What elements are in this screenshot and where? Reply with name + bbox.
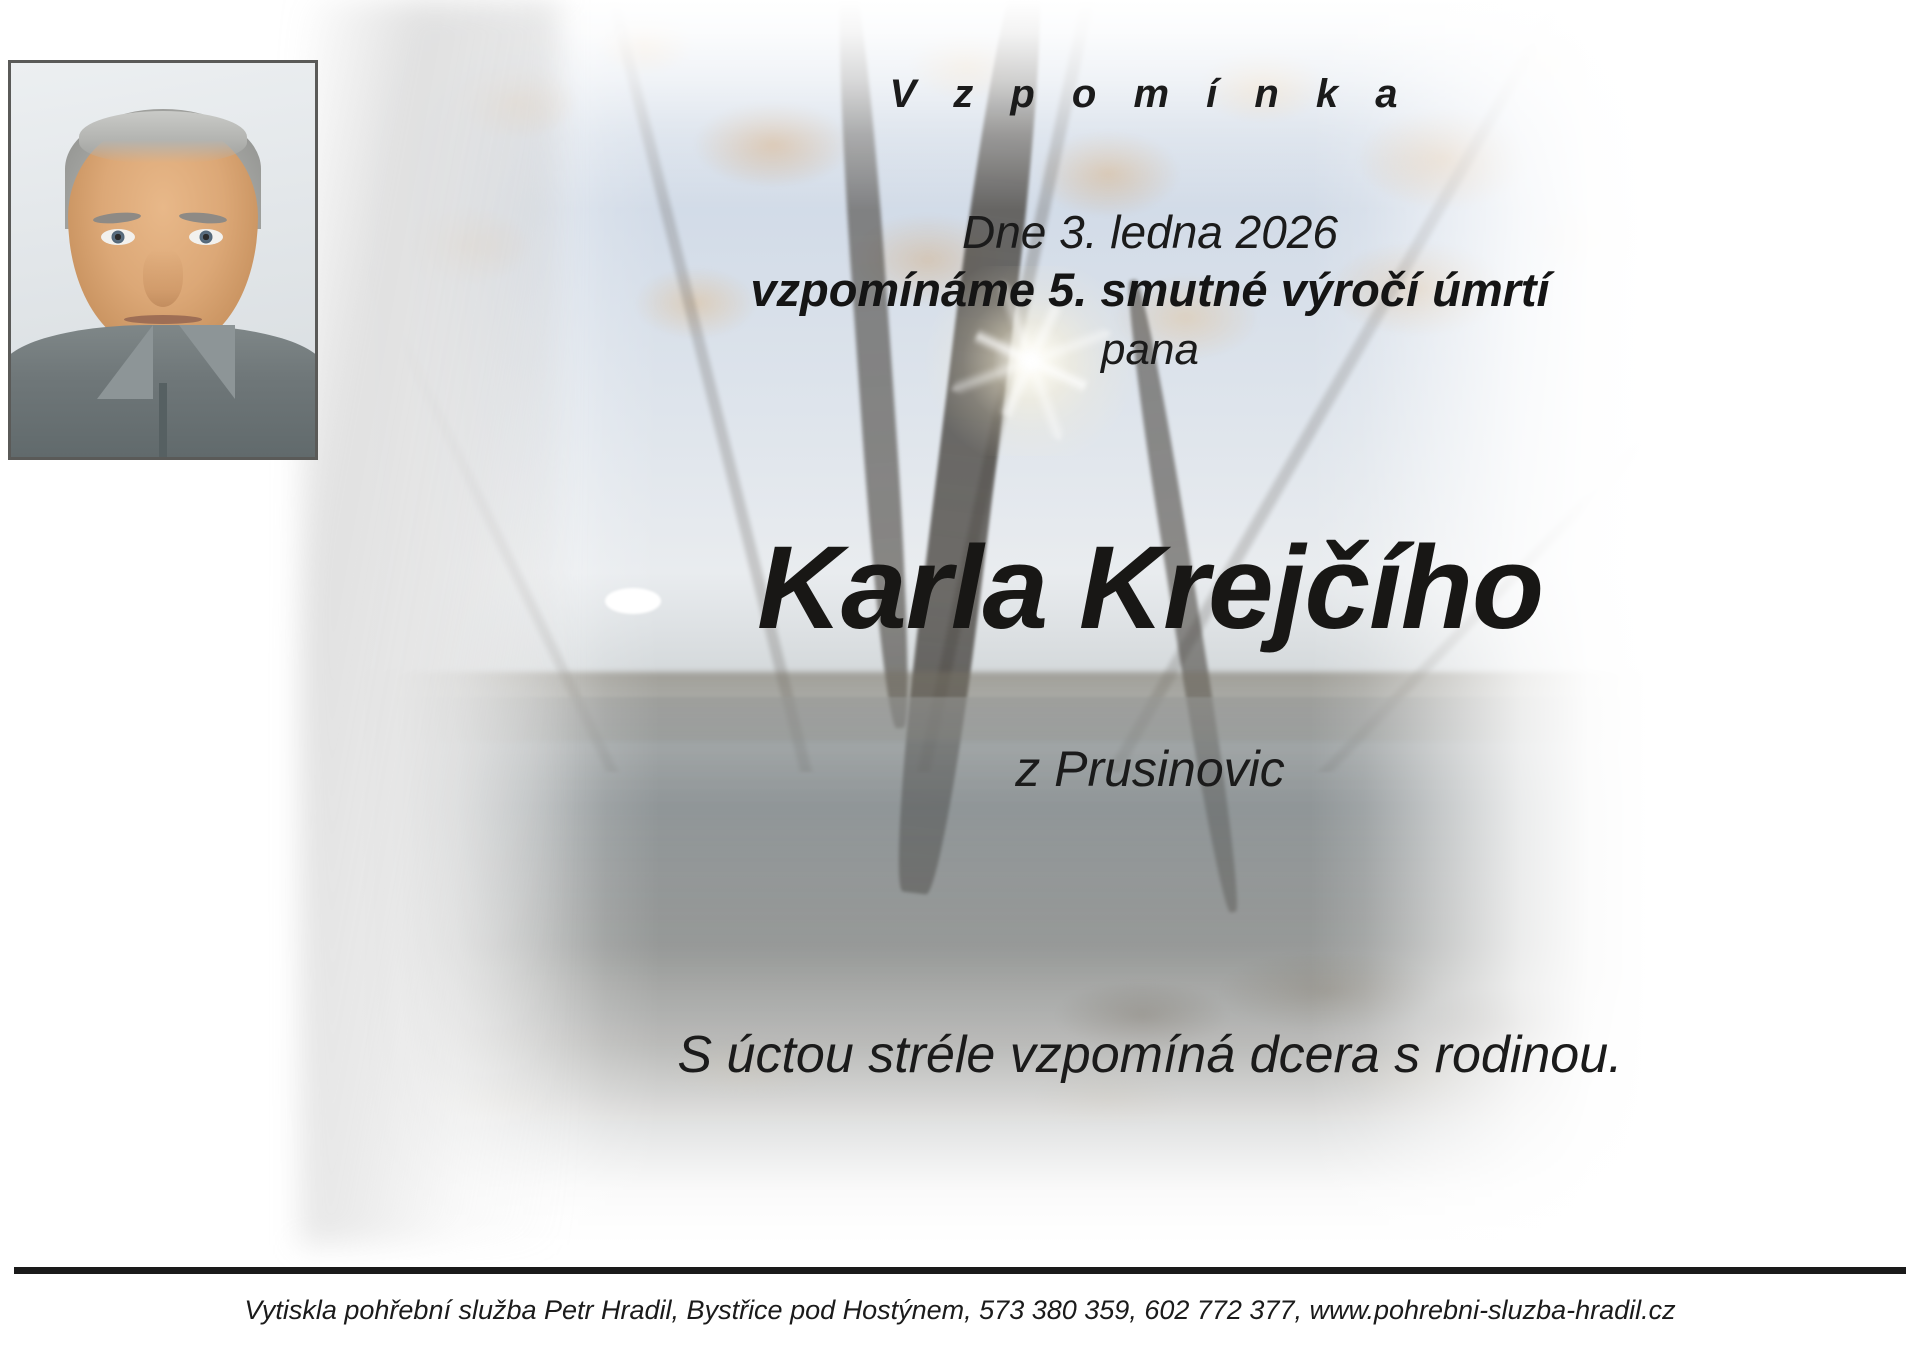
memorial-card: V z p o m í n k a Dne 3. ledna 2026 vzpo…: [0, 0, 1920, 1347]
anniversary-line: vzpomínáme 5. smutné výročí úmrtí: [380, 262, 1920, 317]
honorific-line: pana: [380, 325, 1920, 375]
portrait-image: [11, 63, 315, 457]
portrait-shirt-placket: [159, 383, 167, 457]
date-line: Dne 3. ledna 2026: [380, 205, 1920, 259]
portrait-hair-top: [79, 111, 247, 163]
closing-line: S úctou stréle vzpomíná dcera s rodinou.: [380, 1025, 1920, 1085]
portrait-collar-left: [97, 325, 153, 399]
deceased-name: Karla Krejčího: [380, 520, 1920, 656]
portrait-iris-right: [200, 231, 213, 244]
portrait-eye-left: [101, 229, 135, 245]
footer-text: Vytiskla pohřební služba Petr Hradil, By…: [0, 1295, 1920, 1326]
portrait-nose: [143, 249, 183, 307]
portrait-eye-right: [189, 229, 223, 245]
portrait-mouth: [124, 315, 202, 324]
portrait-iris-left: [112, 231, 125, 244]
portrait-collar-right: [179, 325, 235, 399]
card-title: V z p o m í n k a: [380, 72, 1920, 117]
footer-divider-rule: [14, 1267, 1906, 1274]
portrait-frame: [8, 60, 318, 460]
memorial-text-column: V z p o m í n k a Dne 3. ledna 2026 vzpo…: [380, 0, 1920, 1245]
origin-line: z Prusinovic: [380, 740, 1920, 798]
